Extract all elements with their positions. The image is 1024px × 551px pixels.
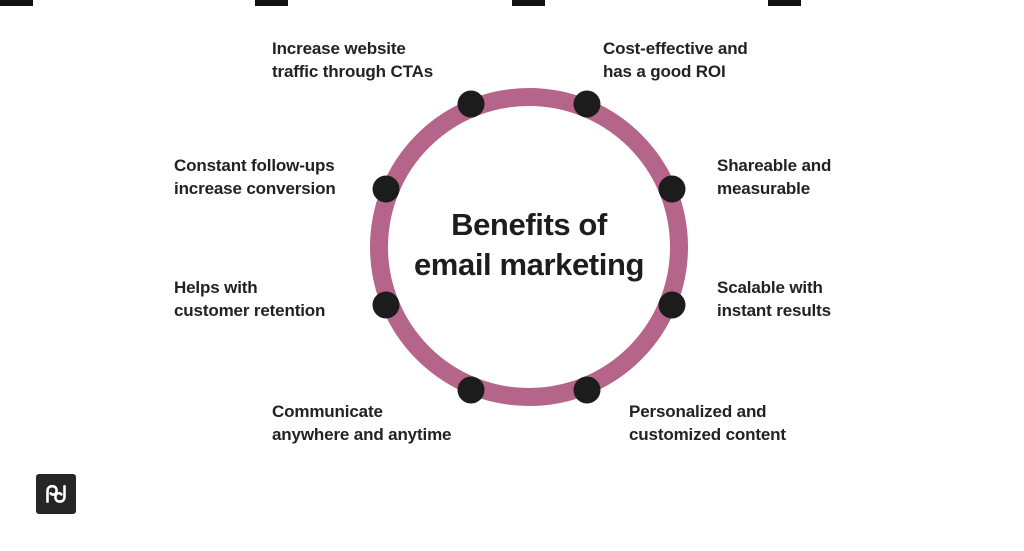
node-dot <box>659 176 686 203</box>
node-label-line: Scalable with <box>717 277 831 300</box>
node-label-cost-effective-roi: Cost-effective and has a good ROI <box>603 38 748 83</box>
node-dot <box>373 176 400 203</box>
node-label-personalized-content: Personalized and customized content <box>629 401 786 446</box>
node-dot <box>458 91 485 118</box>
node-label-line: Shareable and <box>717 155 831 178</box>
node-label-line: instant results <box>717 300 831 323</box>
node-label-line: measurable <box>717 178 831 201</box>
node-label-constant-follow-ups: Constant follow-ups increase conversion <box>174 155 336 200</box>
center-title-line-1: Benefits of <box>369 205 689 245</box>
node-label-customer-retention: Helps with customer retention <box>174 277 325 322</box>
node-dot <box>458 377 485 404</box>
node-label-line: Increase website <box>272 38 433 61</box>
node-label-increase-website-traffic: Increase website traffic through CTAs <box>272 38 433 83</box>
node-label-line: Constant follow-ups <box>174 155 336 178</box>
node-label-line: customized content <box>629 424 786 447</box>
node-label-line: increase conversion <box>174 178 336 201</box>
diagram-center-title: Benefits of email marketing <box>369 205 689 286</box>
node-label-line: has a good ROI <box>603 61 748 84</box>
node-dot <box>574 91 601 118</box>
node-label-communicate-anywhere: Communicate anywhere and anytime <box>272 401 451 446</box>
center-title-line-2: email marketing <box>369 245 689 285</box>
node-label-line: Communicate <box>272 401 451 424</box>
node-label-line: traffic through CTAs <box>272 61 433 84</box>
benefits-cycle-diagram: Benefits of email marketing Increase web… <box>0 0 1024 551</box>
pd-monogram-icon <box>36 474 76 514</box>
node-label-shareable-measurable: Shareable and measurable <box>717 155 831 200</box>
node-dot <box>659 292 686 319</box>
pandadoc-logo <box>36 474 76 514</box>
node-dot <box>373 292 400 319</box>
node-label-line: Cost-effective and <box>603 38 748 61</box>
node-dot <box>574 377 601 404</box>
node-label-line: anywhere and anytime <box>272 424 451 447</box>
node-label-line: Helps with <box>174 277 325 300</box>
node-label-line: Personalized and <box>629 401 786 424</box>
node-label-line: customer retention <box>174 300 325 323</box>
node-label-scalable-instant-results: Scalable with instant results <box>717 277 831 322</box>
